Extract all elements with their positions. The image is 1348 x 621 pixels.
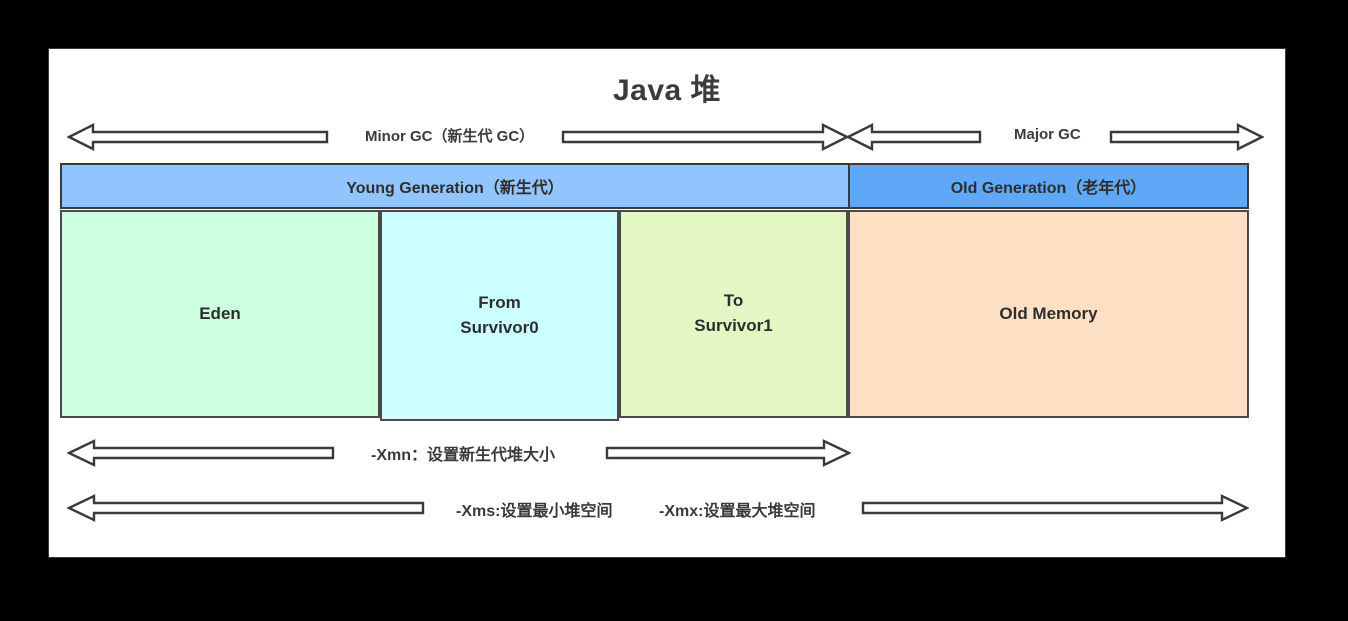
young-generation-label: Young Generation（新生代） (346, 174, 564, 198)
to-survivor1-label-line1: To (724, 291, 744, 310)
xmn-arrow-left (67, 437, 335, 469)
to-survivor1-label-line2: Survivor1 (694, 316, 772, 335)
xms-arrow-left (67, 492, 425, 524)
xmn-label: -Xmn：设置新生代堆大小 (371, 441, 555, 465)
xmx-arrow-right (861, 492, 1249, 524)
major-gc-arrow-left (846, 122, 982, 152)
old-memory-region: Old Memory (848, 210, 1249, 418)
minor-gc-arrow-left (67, 122, 329, 152)
xms-label: -Xms:设置最小堆空间 (456, 497, 612, 521)
eden-region: Eden (60, 210, 380, 418)
old-memory-label-line1: Old Memory (999, 304, 1097, 323)
old-generation-bar: Old Generation（老年代） (848, 163, 1249, 209)
young-generation-bar: Young Generation（新生代） (60, 163, 850, 209)
to-survivor1-region: To Survivor1 (619, 210, 848, 418)
major-gc-arrow-right (1109, 122, 1264, 152)
java-heap-panel: Java 堆 Minor GC（新生代 GC） Major GC (48, 48, 1286, 558)
diagram-canvas: Java 堆 Minor GC（新生代 GC） Major GC (0, 0, 1348, 621)
minor-gc-arrow-right (561, 122, 849, 152)
page-title: Java 堆 (49, 65, 1285, 109)
major-gc-label: Major GC (1014, 126, 1081, 143)
old-generation-label: Old Generation（老年代） (951, 174, 1147, 198)
from-survivor0-label-line2: Survivor0 (460, 318, 538, 337)
xmn-arrow-right (605, 437, 851, 469)
minor-gc-label: Minor GC（新生代 GC） (365, 125, 534, 146)
eden-label-line1: Eden (199, 304, 241, 323)
from-survivor0-region: From Survivor0 (380, 210, 619, 421)
from-survivor0-label-line1: From (478, 293, 521, 312)
xmx-label: -Xmx:设置最大堆空间 (659, 497, 815, 521)
